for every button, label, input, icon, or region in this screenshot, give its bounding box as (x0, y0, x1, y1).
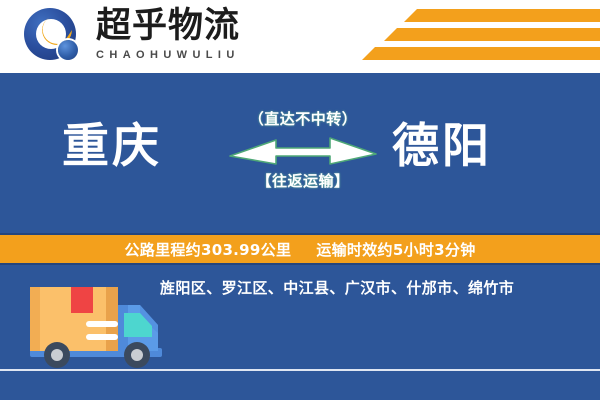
direct-service-note: （直达不中转） (228, 109, 378, 129)
info-bar-content: 公路里程约303.99公里 运输时效约5小时3分钟 (124, 239, 475, 260)
ground-line (0, 369, 600, 371)
delivery-truck-icon (24, 277, 166, 372)
double-headed-arrow-icon (228, 134, 378, 168)
duration-text: 运输时效约5小时3分钟 (316, 241, 475, 259)
brand-block: 超乎物流 CHAOHUWULIU (96, 6, 286, 63)
stripe-3 (362, 47, 600, 60)
coverage-section: 旌阳区、罗江区、中江县、广汉市、什邡市、绵竹市 (0, 265, 600, 400)
route-section: 重庆 （直达不中转） 【往返运输】 德阳 (0, 73, 600, 231)
stripe-2 (384, 28, 600, 41)
brand-name-en: CHAOHUWULIU (96, 47, 286, 63)
company-logo (22, 7, 100, 67)
stripe-1 (404, 9, 600, 22)
route-middle: （直达不中转） 【往返运输】 (228, 109, 378, 191)
logo-accent-dot-icon (58, 40, 78, 60)
banner-header: 超乎物流 CHAOHUWULIU (0, 0, 600, 73)
orange-speed-stripes-icon (360, 0, 600, 73)
coverage-areas-text: 旌阳区、罗江区、中江县、广汉市、什邡市、绵竹市 (160, 277, 590, 298)
origin-city: 重庆 (62, 119, 162, 175)
brand-name-cn: 超乎物流 (96, 6, 286, 46)
route-info-bar: 公路里程约303.99公里 运输时效约5小时3分钟 (0, 233, 600, 265)
logistics-route-banner: 超乎物流 CHAOHUWULIU 重庆 （直达不中转） 【往返运输】 德阳 公路… (0, 0, 600, 400)
distance-text: 公路里程约303.99公里 (124, 241, 291, 259)
destination-city: 德阳 (392, 119, 492, 175)
round-trip-note: 【往返运输】 (228, 171, 378, 191)
